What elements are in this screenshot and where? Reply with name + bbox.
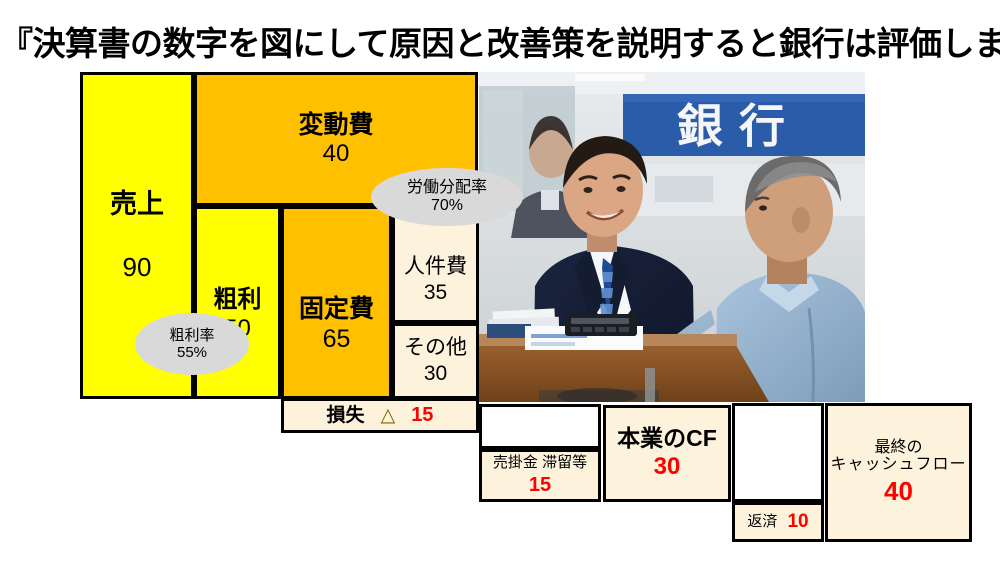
callout-gross-margin-value: 55% bbox=[177, 344, 207, 361]
slide-canvas: 『決算書の数字を図にして原因と改善策を説明すると銀行は評価します』 bbox=[0, 0, 1000, 563]
photo-illustration: 銀 行 bbox=[479, 72, 865, 402]
block-receivable-value: 15 bbox=[529, 474, 551, 496]
block-repayment-value: 10 bbox=[787, 511, 808, 532]
block-final-cash-flow-label-line2: キャッシュフロー bbox=[830, 456, 966, 474]
block-loss[interactable]: 損失 △ 15 bbox=[281, 398, 479, 433]
block-repayment-label: 返済 bbox=[747, 514, 777, 531]
block-final-cash-flow-label-line1: 最終の bbox=[874, 439, 922, 457]
block-receivable[interactable]: 売掛金 滞留等 15 bbox=[479, 449, 601, 502]
block-loss-label: 損失 bbox=[327, 405, 365, 426]
callout-labor-share-label: 労働分配率 bbox=[407, 179, 487, 197]
block-variable-cost-value: 40 bbox=[323, 141, 350, 168]
block-operating-cash-flow-value: 30 bbox=[654, 454, 681, 481]
block-personnel-cost-label: 人件費 bbox=[404, 255, 467, 279]
block-operating-cash-flow-label: 本業のCF bbox=[617, 426, 717, 452]
block-fixed-cost[interactable]: 固定費 65 bbox=[281, 206, 392, 399]
block-final-cash-flow-value: 40 bbox=[884, 477, 913, 506]
svg-text:銀 行: 銀 行 bbox=[677, 99, 785, 153]
page-title: 『決算書の数字を図にして原因と改善策を説明すると銀行は評価します』 bbox=[0, 22, 1000, 66]
block-repayment[interactable]: 返済 10 bbox=[732, 502, 824, 542]
block-fixed-cost-label: 固定費 bbox=[299, 295, 374, 323]
block-operating-cash-flow[interactable]: 本業のCF 30 bbox=[603, 405, 731, 502]
block-sales-value: 90 bbox=[123, 253, 152, 282]
callout-labor-share[interactable]: 労働分配率 70% bbox=[371, 168, 523, 226]
block-receivable-label: 売掛金 滞留等 bbox=[493, 455, 587, 472]
block-final-cash-flow[interactable]: 最終の キャッシュフロー 40 bbox=[825, 403, 972, 542]
block-gross-profit-label: 粗利 bbox=[214, 287, 262, 314]
block-other-cost[interactable]: その他 30 bbox=[392, 323, 479, 399]
bank-meeting-photo: 銀 行 bbox=[479, 72, 865, 402]
callout-labor-share-value: 70% bbox=[431, 197, 463, 215]
callout-gross-margin-label: 粗利率 bbox=[169, 327, 214, 344]
block-receivable-spacer bbox=[479, 404, 601, 449]
block-fixed-cost-value: 65 bbox=[323, 325, 351, 353]
block-sales-label: 売上 bbox=[110, 189, 164, 219]
block-repayment-spacer bbox=[732, 403, 824, 502]
block-variable-cost-label: 変動費 bbox=[298, 111, 373, 139]
block-personnel-cost-value: 35 bbox=[424, 281, 447, 305]
callout-gross-margin[interactable]: 粗利率 55% bbox=[135, 313, 249, 375]
loss-triangle-icon: △ bbox=[381, 405, 396, 426]
block-loss-value: 15 bbox=[411, 404, 433, 426]
block-other-cost-label: その他 bbox=[404, 336, 467, 360]
block-other-cost-value: 30 bbox=[424, 362, 447, 386]
